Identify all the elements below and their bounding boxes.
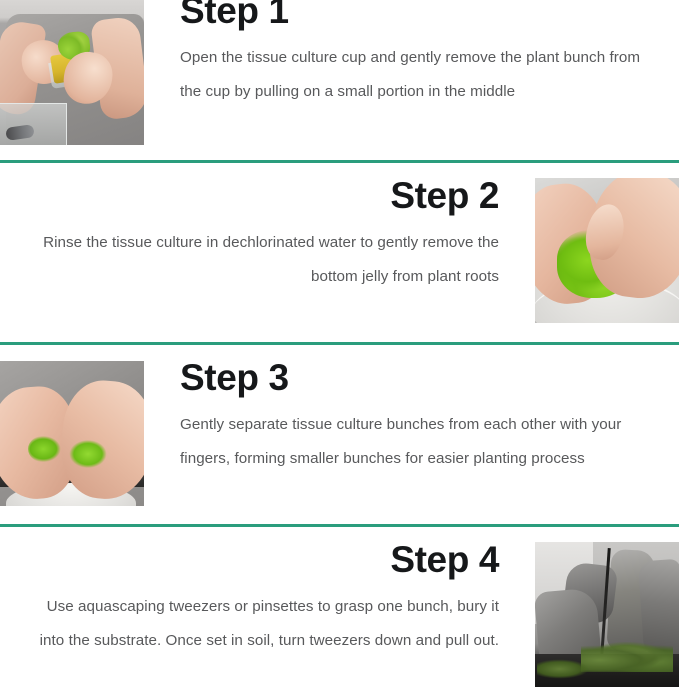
step-block-4: Step 4 Use aquascaping tweezers or pinse… bbox=[0, 527, 679, 688]
step-3-content: Step 3 Gently separate tissue culture bu… bbox=[0, 345, 679, 524]
step-1-photo bbox=[0, 0, 144, 145]
step-2-content: Step 2 Rinse the tissue culture in dechl… bbox=[0, 163, 679, 342]
step-4-title: Step 4 bbox=[36, 541, 499, 580]
step-4-body: Use aquascaping tweezers or pinsettes to… bbox=[36, 590, 499, 658]
step-1-content: Step 1 Open the tissue culture cup and g… bbox=[0, 0, 679, 160]
step-1-copy: Step 1 Open the tissue culture cup and g… bbox=[144, 0, 679, 160]
step-3-body: Gently separate tissue culture bunches f… bbox=[180, 408, 643, 476]
step-1-body: Open the tissue culture cup and gently r… bbox=[180, 41, 643, 109]
step-guide-page: Step 1 Open the tissue culture cup and g… bbox=[0, 0, 679, 683]
step-1-title: Step 1 bbox=[180, 0, 643, 31]
step-3-title: Step 3 bbox=[180, 359, 643, 398]
step-4-copy: Step 4 Use aquascaping tweezers or pinse… bbox=[0, 541, 535, 688]
photo-right-plant-shape bbox=[68, 439, 108, 469]
step-2-body: Rinse the tissue culture in dechlorinate… bbox=[36, 226, 499, 294]
step-2-title: Step 2 bbox=[36, 177, 499, 216]
step-2-copy: Step 2 Rinse the tissue culture in dechl… bbox=[0, 177, 535, 342]
step-4-photo bbox=[535, 542, 679, 687]
photo-plant-shape bbox=[581, 642, 673, 672]
step-2-photo bbox=[535, 178, 679, 323]
step-block-1: Step 1 Open the tissue culture cup and g… bbox=[0, 0, 679, 163]
step-block-3: Step 3 Gently separate tissue culture bu… bbox=[0, 345, 679, 527]
photo-left-plant-shape bbox=[28, 435, 62, 463]
step-3-copy: Step 3 Gently separate tissue culture bu… bbox=[144, 359, 679, 524]
step-block-2: Step 2 Rinse the tissue culture in dechl… bbox=[0, 163, 679, 345]
photo-plant-secondary-shape bbox=[537, 658, 593, 680]
step-3-photo bbox=[0, 361, 144, 506]
step-4-content: Step 4 Use aquascaping tweezers or pinse… bbox=[0, 527, 679, 688]
